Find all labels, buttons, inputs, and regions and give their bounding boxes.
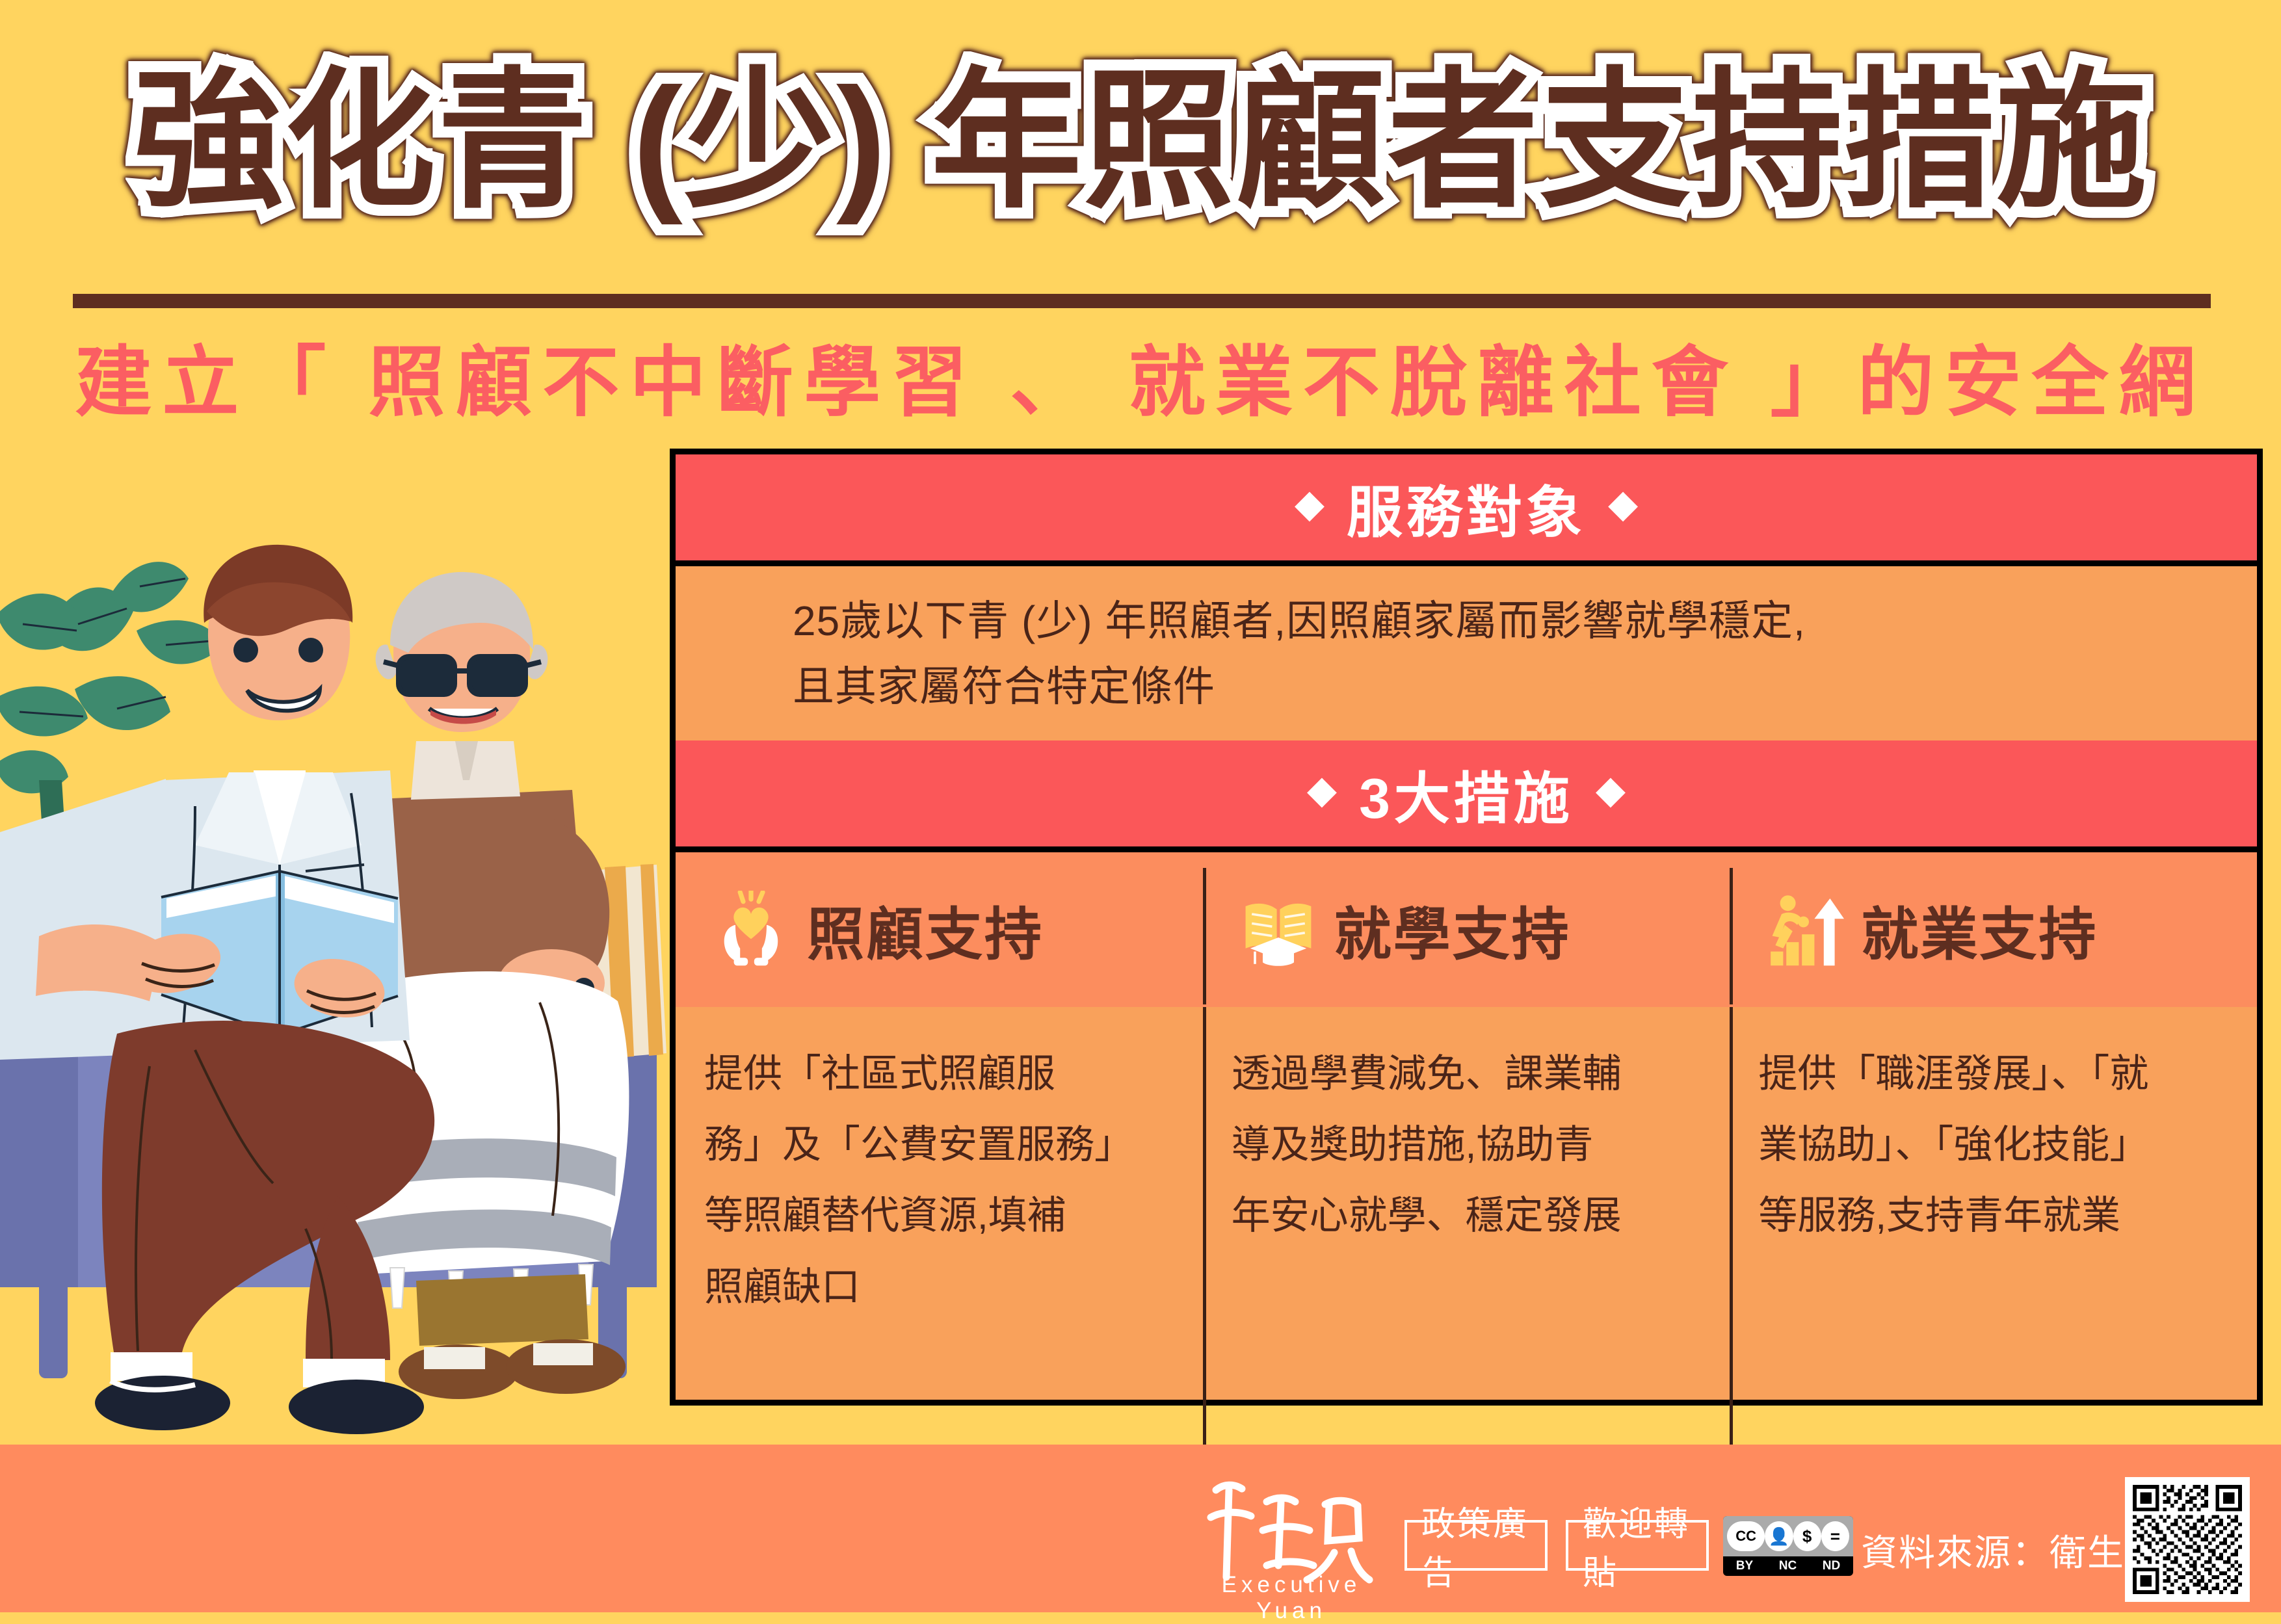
measure-body-education: 透過學費減免、課業輔 導及獎助措施,協助青 年安心就學、穩定發展	[1203, 1007, 1730, 1400]
page-title: 強化青 (少) 年照顧者支持措施	[0, 62, 2281, 222]
cc-nd-icon: =	[1821, 1521, 1849, 1551]
page-header: 強化青 (少) 年照顧者支持措施	[0, 62, 2281, 222]
measure-headings-row: 照顧支持 就學支持	[676, 852, 2257, 1007]
measure-heading-label: 照顧支持	[807, 889, 1044, 971]
measure-body-employment: 提供「職涯發展」、「就 業協助」、「強化技能」 等服務,支持青年就業	[1730, 1007, 2257, 1400]
measure-body-line: 等照顧替代資源,填補	[704, 1180, 1181, 1251]
cc-icon: CC	[1727, 1521, 1765, 1551]
service-target-line: 且其家屬符合特定條件	[793, 654, 2257, 720]
cc-nc-icon: $	[1793, 1521, 1821, 1551]
measure-body-line: 年安心就學、穩定發展	[1232, 1180, 1708, 1251]
cc-by-label: BY	[1736, 1559, 1753, 1573]
service-target-line: 25歲以下青 (少) 年照顧者,因照顧家屬而影響就學穩定,	[793, 588, 2257, 654]
page-subtitle: 建立「 照顧不中斷學習 、 就業不脫離社會 」的安全網	[0, 320, 2281, 431]
measure-heading-label: 就學支持	[1334, 889, 1571, 971]
person-climbing-chart-arrow-icon	[1766, 891, 1844, 969]
cc-nd-label: ND	[1823, 1559, 1840, 1573]
measure-heading-employment: 就業支持	[1730, 852, 2257, 1007]
service-target-description: 25歲以下青 (少) 年照顧者,因照顧家屬而影響就學穩定, 且其家屬符合特定條件	[676, 566, 2257, 740]
measure-body-line: 務」及「公費安置服務」	[704, 1109, 1181, 1180]
cc-by-icon: 👤	[1765, 1521, 1793, 1551]
measures-panel: ◆ 服務對象 ◆ 25歲以下青 (少) 年照顧者,因照顧家屬而影響就學穩定, 且…	[670, 449, 2263, 1406]
measure-body-line: 提供「職涯發展」、「就	[1758, 1038, 2235, 1109]
hands-holding-heart-icon	[712, 891, 790, 969]
title-divider-rule	[73, 294, 2211, 308]
measure-heading-label: 就業支持	[1861, 889, 2098, 971]
measure-body-care: 提供「社區式照顧服 務」及「公費安置服務」 等照顧替代資源,填補 照顧缺口	[676, 1007, 1203, 1400]
executive-yuan-logo-en-label: Executive Yuan	[1187, 1572, 1395, 1624]
policy-ad-badge: 政策廣告	[1404, 1520, 1548, 1571]
measure-body-line: 提供「社區式照顧服	[704, 1038, 1181, 1109]
measure-body-line: 導及獎助措施,協助青	[1232, 1109, 1708, 1180]
measure-descriptions-row: 提供「社區式照顧服 務」及「公費安置服務」 等照顧替代資源,填補 照顧缺口 透過…	[676, 1007, 2257, 1400]
caregiver-illustration	[0, 416, 689, 1456]
measure-body-line: 業協助」、「強化技能」	[1758, 1109, 2235, 1180]
repost-welcome-badge: 歡迎轉貼	[1566, 1520, 1709, 1571]
three-measures-band: ◆ 3大措施 ◆	[676, 740, 2257, 852]
diamond-left-icon: ◆	[1295, 481, 1325, 527]
measure-heading-care: 照顧支持	[676, 852, 1203, 1007]
measure-heading-education: 就學支持	[1203, 852, 1730, 1007]
measure-body-line: 等服務,支持青年就業	[1758, 1180, 2235, 1251]
measure-body-line: 透過學費減免、課業輔	[1232, 1038, 1708, 1109]
cc-nc-label: NC	[1779, 1559, 1797, 1573]
service-target-band: ◆ 服務對象 ◆	[676, 454, 2257, 566]
qr-code-icon[interactable]	[2125, 1477, 2250, 1602]
measure-body-line: 照顧缺口	[704, 1251, 1181, 1322]
diamond-right-icon: ◆	[1596, 767, 1626, 813]
creative-commons-license-badge: CC 👤 $ = BY NC ND	[1723, 1516, 1853, 1576]
diamond-right-icon: ◆	[1608, 481, 1638, 527]
service-target-label: 服務對象	[1347, 467, 1586, 548]
three-measures-label: 3大措施	[1359, 753, 1574, 834]
open-book-graduation-cap-icon	[1239, 891, 1317, 969]
diamond-left-icon: ◆	[1307, 767, 1337, 813]
